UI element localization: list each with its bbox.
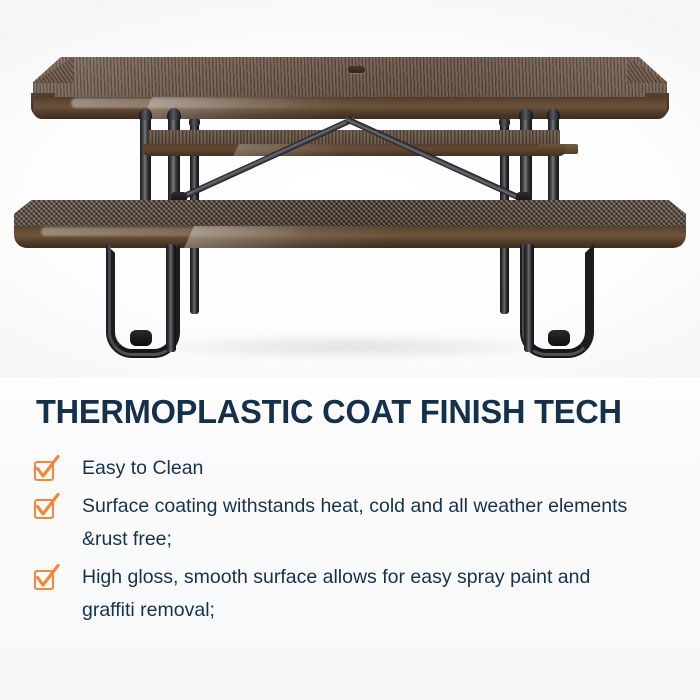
checkbox-check-icon (33, 496, 58, 521)
bench-seat (14, 200, 686, 248)
table-leg-inner-right-cap (519, 108, 533, 120)
list-item: Surface coating withstands heat, cold an… (33, 490, 673, 556)
apron-mount-plate (538, 144, 578, 154)
feature-text: Easy to Clean (82, 452, 203, 485)
umbrella-hole (348, 66, 365, 73)
foot-clamp-left (130, 330, 152, 346)
product-feature-page: THERMOPLASTIC COAT FINISH TECH Easy to C… (0, 0, 700, 700)
bench-leg-right-inner (524, 244, 534, 352)
feature-text: High gloss, smooth surface allows for ea… (82, 561, 648, 627)
bench-leg-left-inner (166, 244, 176, 352)
center-apron-board (148, 130, 560, 156)
feature-text: Surface coating withstands heat, cold an… (82, 490, 648, 556)
list-item: High gloss, smooth surface allows for ea… (33, 561, 673, 627)
checkbox-check-icon (33, 567, 58, 592)
cross-brace-right (344, 116, 523, 202)
cross-brace-left (177, 116, 356, 202)
foot-clamp-right (548, 330, 570, 346)
table-top-surface (33, 57, 667, 100)
checkbox-check-icon (33, 458, 58, 483)
page-title: THERMOPLASTIC COAT FINISH TECH (36, 392, 666, 432)
list-item: Easy to Clean (33, 452, 673, 485)
product-image (0, 0, 700, 378)
apron-edge (143, 144, 565, 156)
feature-list: Easy to Clean Surface coating withstands… (33, 452, 673, 632)
table-leg-front-left-cap (139, 108, 152, 120)
table-top-edge (33, 97, 667, 119)
table-leg-inner-left-cap (167, 108, 181, 120)
table-leg-front-right-cap (547, 108, 560, 120)
